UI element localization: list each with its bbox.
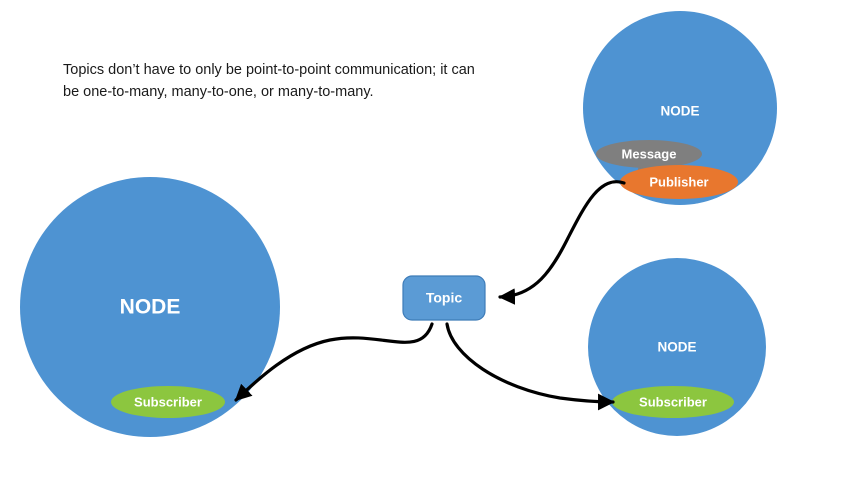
node-bottom-right[interactable]: NODE Subscriber [588, 258, 766, 436]
arrow-topic-to-bottom-right-subscriber [447, 324, 613, 402]
diagram-canvas: Topics don’t have to only be point-to-po… [0, 0, 854, 480]
topic-box[interactable]: Topic [403, 276, 485, 320]
subscriber-left-label: Subscriber [134, 394, 202, 409]
node-top-right[interactable]: NODE Message Publisher [583, 11, 777, 205]
topic-label: Topic [426, 290, 463, 306]
node-left[interactable]: NODE Subscriber [20, 177, 280, 437]
subscriber-bottom-right-label: Subscriber [639, 394, 707, 409]
node-bottom-right-label: NODE [657, 340, 696, 355]
arrow-publisher-to-topic [500, 182, 624, 297]
publisher-label: Publisher [649, 174, 708, 189]
ros-topic-diagram: NODE Subscriber NODE Message Publisher N… [0, 0, 854, 480]
node-left-label: NODE [120, 296, 181, 319]
message-label: Message [622, 146, 677, 161]
node-top-right-label: NODE [660, 104, 699, 119]
